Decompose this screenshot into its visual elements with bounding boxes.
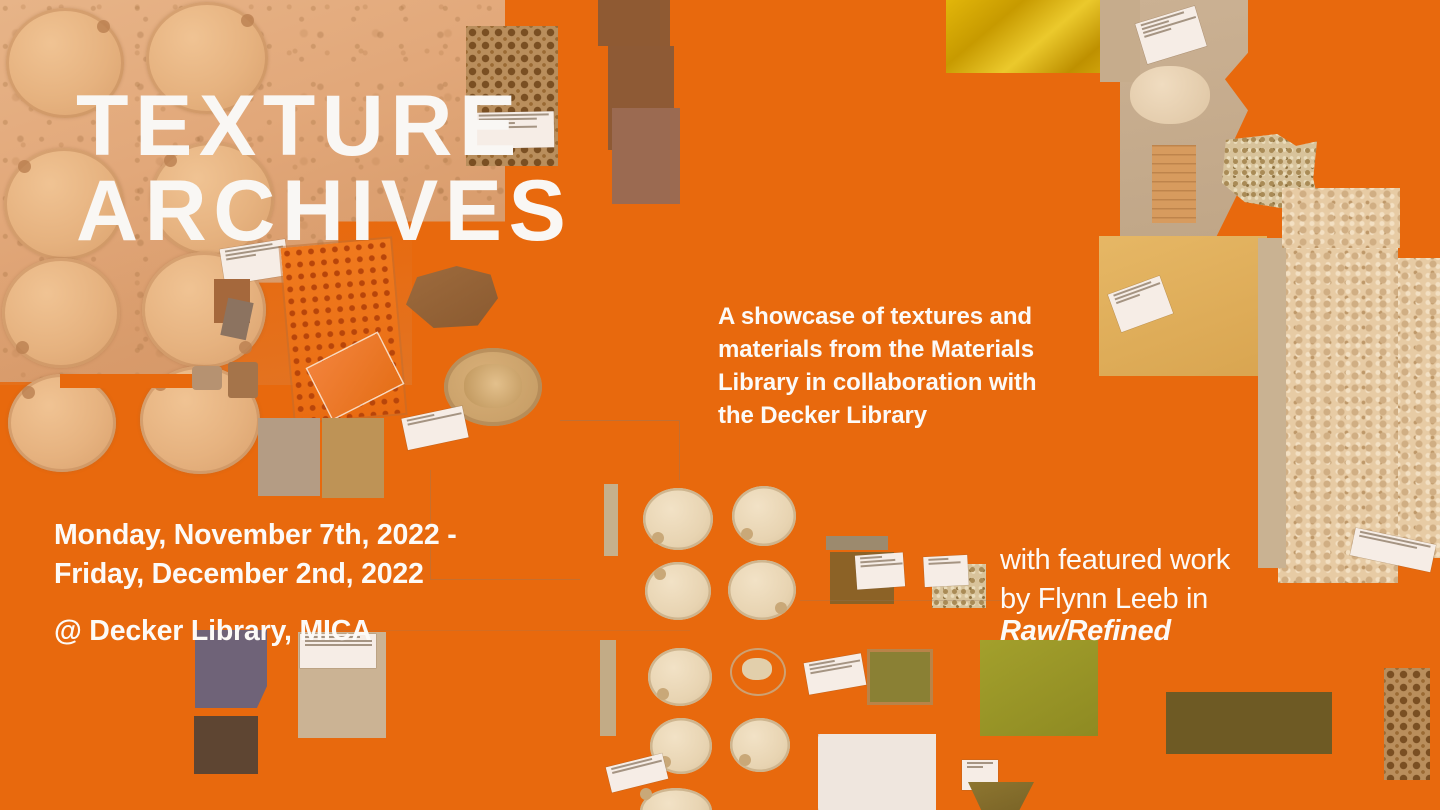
description-text: A showcase of textures and materials fro… [718,301,1068,433]
event-dates: Monday, November 7th, 2022 - Friday, Dec… [54,516,634,595]
page-title: TEXTURE ARCHIVES [76,84,572,254]
poster-canvas: TEXTURE ARCHIVES A showcase of textures … [0,0,1440,810]
text-layer: TEXTURE ARCHIVES A showcase of textures … [0,0,1440,810]
event-venue: @ Decker Library, MICA [54,615,371,648]
featured-credit: with featured work by Flynn Leeb in [1000,541,1300,618]
featured-work-title: Raw/Refined [1000,615,1171,648]
